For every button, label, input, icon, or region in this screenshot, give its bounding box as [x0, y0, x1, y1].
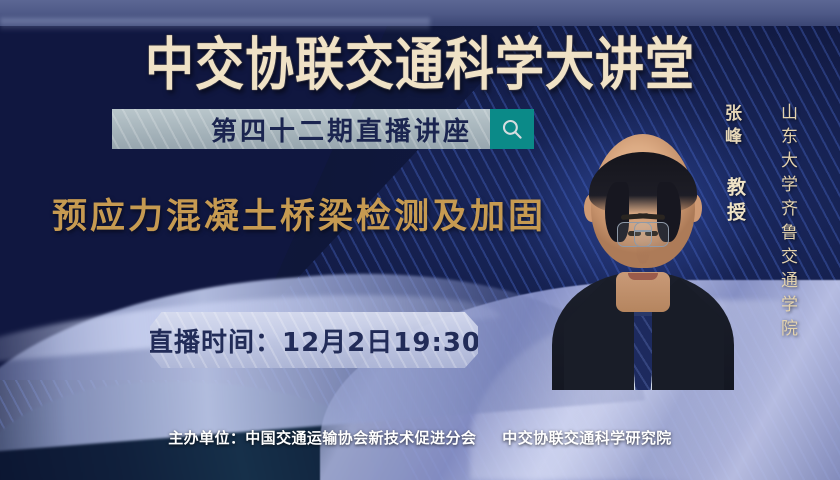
episode-label: 第四十二期直播讲座 — [211, 111, 472, 148]
poster-canvas: 中交协联交通科学大讲堂 第四十二期直播讲座 预应力混凝土桥梁检测及加固 直播时间… — [0, 0, 840, 480]
footer: 主办单位：中国交通运输协会新技术促进分会中交协联交通科学研究院 — [0, 427, 840, 448]
speaker-title: 教授 — [723, 177, 749, 227]
search-button[interactable] — [490, 109, 534, 149]
footer-organizer: 主办单位：中国交通运输协会新技术促进分会 — [168, 429, 476, 447]
speaker-name: 张峰 — [714, 104, 740, 150]
portrait-nose — [637, 242, 650, 264]
glasses-icon-bridge — [635, 230, 651, 232]
portrait-mouth — [628, 273, 658, 280]
episode-bar: 第四十二期直播讲座 — [112, 109, 490, 149]
footer-institute: 中交协联交通科学研究院 — [502, 429, 671, 447]
page-title: 中交协联交通科学大讲堂 — [0, 19, 840, 101]
live-time-badge: 直播时间：12月2日19:30 — [150, 312, 478, 368]
portrait-eyebrow-right — [637, 213, 665, 220]
live-time-label: 直播时间：12月2日19:30 — [147, 322, 481, 359]
lecture-headline: 预应力混凝土桥梁检测及加固 — [52, 188, 546, 239]
search-icon — [500, 117, 524, 141]
speaker-affiliation: 山东大学齐鲁交通学院 — [776, 103, 800, 343]
speaker-portrait — [548, 112, 738, 390]
